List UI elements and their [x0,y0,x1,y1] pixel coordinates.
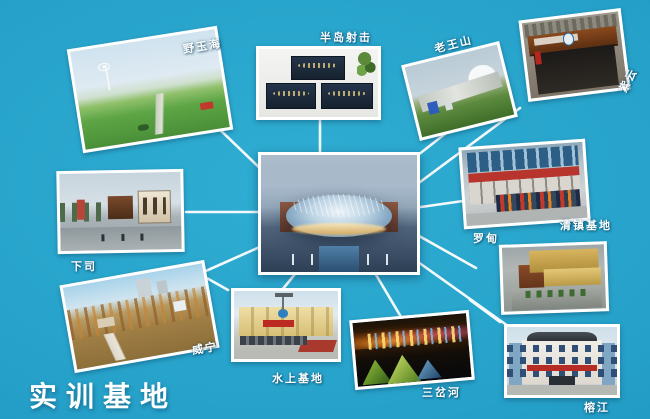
label-shuishang: 水上基地 [272,370,324,386]
training-base-diagram: 野玉海 半岛射击 老王山 紫云 [0,0,650,419]
photo-card-bandao[interactable] [256,46,381,120]
connector-to-sancha [372,268,404,322]
label-luodian: 罗甸 [473,230,499,246]
photo-luodian [502,244,606,312]
label-qingzhen: 清镇基地 [560,217,612,233]
label-xiasi: 下司 [71,258,97,274]
photo-card-shuishang[interactable] [231,288,341,362]
photo-card-xiasi[interactable] [56,169,184,254]
photo-card-luodian[interactable] [499,241,609,315]
photo-card-center-hub[interactable] [258,152,420,275]
photo-center-stadium [261,155,417,272]
label-bandao: 半岛射击 [320,29,372,45]
photo-sancha [352,313,471,387]
photo-xiasi [59,172,181,251]
photo-card-qingzhen[interactable] [458,139,590,230]
photo-card-rongjiang[interactable] [504,324,620,398]
photo-card-sancha[interactable] [349,310,475,390]
photo-ziyun [522,11,628,98]
label-rongjiang: 榕江 [584,399,610,415]
photo-card-ziyun[interactable] [518,8,630,102]
connector-to-luodian [412,232,476,268]
page-title: 实训基地 [29,375,177,415]
connector-luodian-to-rongjiang [470,300,500,322]
photo-rongjiang [507,327,617,395]
photo-shuishang [234,291,338,359]
photo-bandao [259,49,378,117]
label-sancha: 三岔河 [422,384,461,400]
photo-qingzhen [461,142,587,226]
